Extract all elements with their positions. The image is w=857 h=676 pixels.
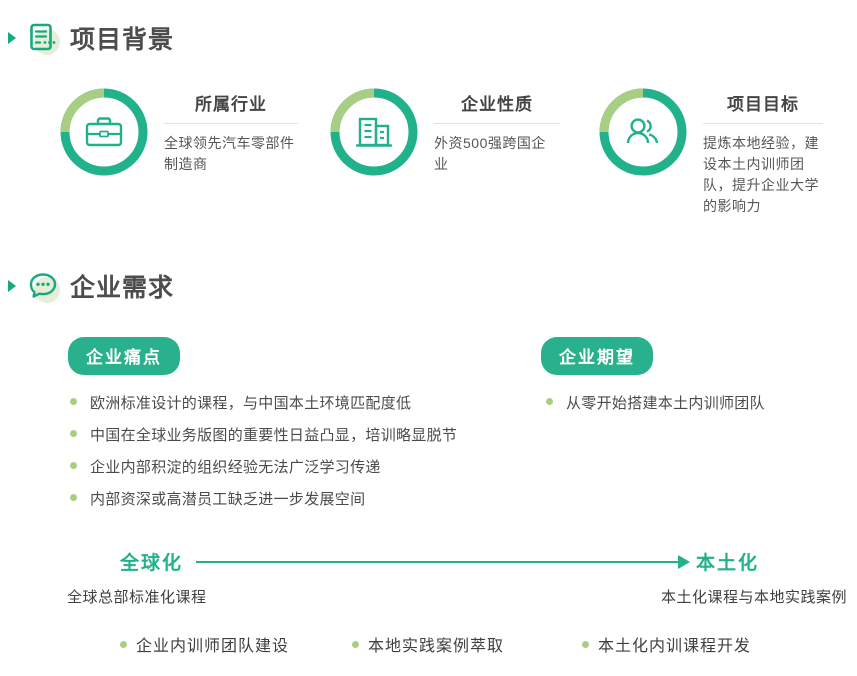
progress-ring (58, 86, 150, 178)
bullet-dot-icon (582, 641, 589, 648)
list-item: 内部资深或高潜员工缺乏进一步发展空间 (70, 490, 457, 509)
triangle-marker-icon (8, 280, 16, 292)
tag-item: 企业内训师团队建设 (120, 632, 289, 656)
pill-expectations[interactable]: 企业期望 (541, 337, 653, 375)
badge-text-block: 企业性质 外资500强跨国企业 (434, 86, 560, 175)
pill-pain-points[interactable]: 企业痛点 (68, 337, 180, 375)
list-item: 中国在全球业务版图的重要性日益凸显，培训略显脱节 (70, 426, 457, 445)
badge-text-block: 项目目标 提炼本地经验，建设本土内训师团队，提升企业大学的影响力 (703, 86, 823, 217)
section-header-project-background: 项目背景 (8, 20, 174, 56)
list-item-label: 企业内部积淀的组织经验无法广泛学习传递 (90, 458, 381, 477)
badge-divider (164, 123, 298, 124)
tag-label: 本地实践案例萃取 (368, 632, 504, 656)
tag-item: 本土化内训课程开发 (582, 632, 751, 656)
list-item: 从零开始搭建本土内训师团队 (546, 394, 765, 413)
badge-divider (434, 123, 560, 124)
document-list-icon (26, 21, 60, 55)
list-item: 欧洲标准设计的课程，与中国本土环境匹配度低 (70, 394, 457, 413)
expectation-list: 从零开始搭建本土内训师团队 (546, 394, 765, 413)
badge-description: 提炼本地经验，建设本土内训师团队，提升企业大学的影响力 (703, 133, 823, 217)
tag-label: 企业内训师团队建设 (136, 632, 289, 656)
briefcase-icon (58, 86, 150, 178)
badge-text-block: 所属行业 全球领先汽车零部件制造商 (164, 86, 298, 175)
slide-canvas: 项目背景 所属行业 (0, 0, 857, 676)
info-badge-company-type: 企业性质 外资500强跨国企业 (328, 86, 560, 178)
arrow-head-icon (678, 555, 690, 569)
people-icon (597, 86, 689, 178)
arrow-line (196, 561, 683, 563)
progress-ring (597, 86, 689, 178)
list-item-label: 中国在全球业务版图的重要性日益凸显，培训略显脱节 (90, 426, 457, 445)
badge-description: 外资500强跨国企业 (434, 133, 560, 175)
section-title: 项目背景 (70, 20, 174, 56)
progress-ring (328, 86, 420, 178)
speech-bubble-icon (26, 269, 60, 303)
section-header-company-needs: 企业需求 (8, 268, 174, 304)
bullet-dot-icon (546, 398, 553, 405)
arrow-label-right: 本土化 (696, 548, 759, 575)
info-badge-industry: 所属行业 全球领先汽车零部件制造商 (58, 86, 298, 178)
bullet-dot-icon (70, 398, 77, 405)
section-title: 企业需求 (70, 268, 174, 304)
bullet-dot-icon (70, 494, 77, 501)
triangle-marker-icon (8, 32, 16, 44)
list-item-label: 欧洲标准设计的课程，与中国本土环境匹配度低 (90, 394, 411, 413)
badge-title: 所属行业 (164, 90, 298, 123)
building-icon (328, 86, 420, 178)
badge-divider (703, 123, 823, 124)
tag-item: 本地实践案例萃取 (352, 632, 504, 656)
badge-title: 项目目标 (703, 90, 823, 123)
transition-arrow-band: 全球化 本土化 全球总部标准化课程 本土化课程与本地实践案例 (0, 548, 857, 608)
tag-label: 本土化内训课程开发 (598, 632, 751, 656)
arrow-sub-right: 本土化课程与本地实践案例 (661, 586, 847, 607)
bullet-dot-icon (120, 641, 127, 648)
list-item: 企业内部积淀的组织经验无法广泛学习传递 (70, 458, 457, 477)
outcome-tag-row: 企业内训师团队建设 本地实践案例萃取 本土化内训课程开发 (0, 632, 857, 662)
pain-point-list: 欧洲标准设计的课程，与中国本土环境匹配度低 中国在全球业务版图的重要性日益凸显，… (70, 394, 457, 509)
bullet-dot-icon (70, 430, 77, 437)
info-badge-row: 所属行业 全球领先汽车零部件制造商 (0, 84, 857, 219)
info-badge-project-goal: 项目目标 提炼本地经验，建设本土内训师团队，提升企业大学的影响力 (597, 86, 823, 217)
list-item-label: 内部资深或高潜员工缺乏进一步发展空间 (90, 490, 365, 509)
bullet-dot-icon (352, 641, 359, 648)
badge-description: 全球领先汽车零部件制造商 (164, 133, 298, 175)
list-item-label: 从零开始搭建本土内训师团队 (566, 394, 765, 413)
badge-title: 企业性质 (434, 90, 560, 123)
arrow-label-left: 全球化 (120, 548, 183, 575)
bullet-dot-icon (70, 462, 77, 469)
arrow-sub-left: 全球总部标准化课程 (67, 586, 207, 607)
